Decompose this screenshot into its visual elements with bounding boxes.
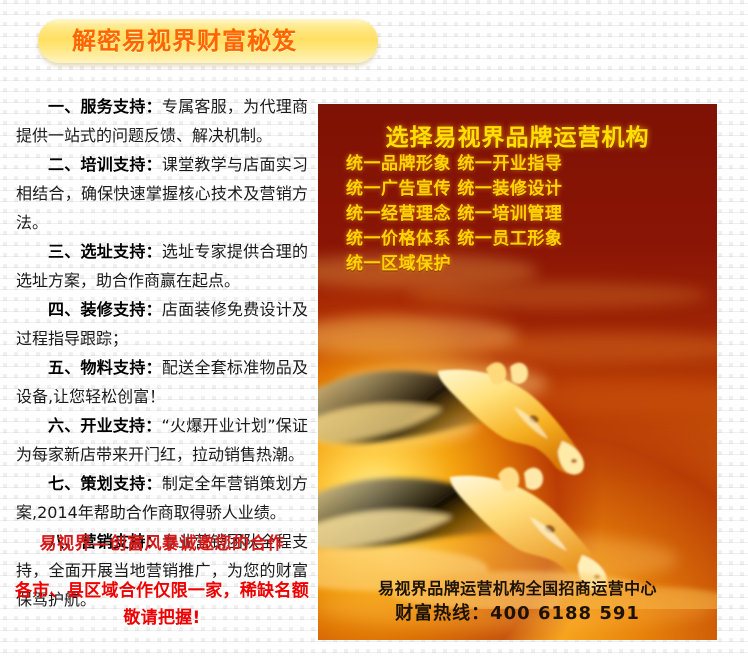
poster-footer: 易视界品牌运营机构全国招商运营中心 财富热线：400 6188 591: [318, 576, 717, 626]
support-item-lead: 四、装修支持：: [48, 300, 162, 319]
poster-footer-org: 易视界品牌运营机构全国招商运营中心: [318, 576, 717, 601]
poster-feature-item: 统一品牌形象 统一开业指导: [346, 152, 706, 177]
brand-poster: 选择易视界品牌运营机构 统一品牌形象 统一开业指导 统一广告宣传 统一装修设计 …: [318, 104, 717, 640]
poster-feature-item: 统一广告宣传 统一装修设计: [346, 177, 706, 202]
support-item-lead: 七、策划支持：: [48, 474, 162, 493]
page-title: 解密易视界财富秘笈: [72, 29, 297, 53]
poster-feature-item: 统一价格体系 统一员工形象: [346, 227, 706, 252]
tagline-primary: 易视界—创富风暴诚邀您的合作: [16, 532, 308, 556]
support-item: 二、培训支持：课堂教学与店面实习相结合，确保快速掌握核心技术及营销方法。: [16, 150, 308, 237]
support-item: 七、策划支持：制定全年营销策划方案,2014年帮助合作商取得骄人业绩。: [16, 469, 308, 527]
poster-feature-list: 统一品牌形象 统一开业指导 统一广告宣传 统一装修设计 统一经营理念 统一培训管…: [346, 152, 706, 277]
support-item-lead: 三、选址支持：: [48, 242, 162, 261]
support-item-lead: 五、物料支持：: [48, 358, 162, 377]
support-item: 六、开业支持：“火爆开业计划”保证为每家新店带来开门红，拉动销售热潮。: [16, 411, 308, 469]
support-item: 一、服务支持：专属客服，为代理商提供一站式的问题反馈、解决机制。: [16, 92, 308, 150]
tagline-secondary: 各市、县区域合作仅限一家，稀缺名额敬请把握!: [12, 578, 312, 632]
poster-footer-hotline: 财富热线：400 6188 591: [318, 601, 717, 626]
support-item: 五、物料支持：配送全套标准物品及设备,让您轻松创富！: [16, 353, 308, 411]
poster-feature-item: 统一经营理念 统一培训管理: [346, 202, 706, 227]
support-item: 三、选址支持：选址专家提供合理的选址方案，助合作商赢在起点。: [16, 237, 308, 295]
support-item-lead: 六、开业支持：: [48, 416, 161, 435]
galloping-horses-illustration: [318, 359, 717, 609]
support-item: 四、装修支持：店面装修免费设计及过程指导跟踪；: [16, 295, 308, 353]
support-item-lead: 一、服务支持：: [48, 97, 162, 116]
promo-page: 解密易视界财富秘笈 一、服务支持：专属客服，为代理商提供一站式的问题反馈、解决机…: [0, 0, 748, 660]
poster-feature-item: 统一区域保护: [346, 252, 706, 277]
support-item-lead: 二、培训支持：: [48, 155, 162, 174]
page-title-banner: 解密易视界财富秘笈: [38, 19, 378, 63]
poster-heading: 选择易视界品牌运营机构: [318, 118, 717, 152]
